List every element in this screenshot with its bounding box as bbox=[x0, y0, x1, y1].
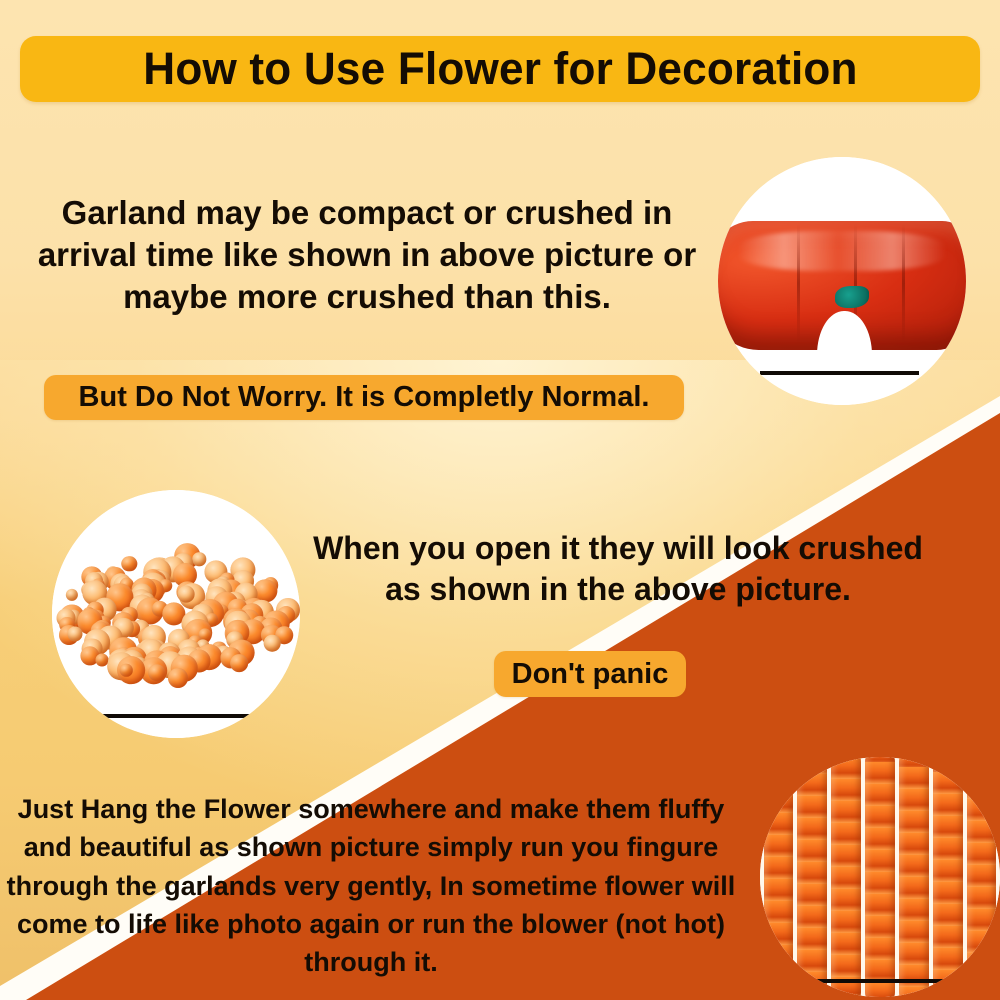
reassurance-pill-dont-panic: Don't panic bbox=[494, 651, 686, 697]
photo-baseline-rule bbox=[760, 371, 919, 375]
marigold-strand bbox=[967, 757, 997, 997]
strand-backdrop bbox=[760, 757, 1000, 997]
marigold-strand bbox=[933, 757, 963, 997]
top-paragraph: Garland may be compact or crushed in arr… bbox=[8, 192, 726, 319]
marigold-strand bbox=[764, 757, 794, 997]
marigold-strand bbox=[865, 757, 895, 997]
page-title: How to Use Flower for Decoration bbox=[143, 43, 857, 95]
photo-packed-garland-bundle bbox=[718, 157, 966, 405]
title-banner: How to Use Flower for Decoration bbox=[20, 36, 980, 102]
reassurance-pill-normal: But Do Not Worry. It is Completly Normal… bbox=[44, 375, 684, 420]
photo-baseline-rule bbox=[789, 979, 962, 983]
photo-crushed-marigold-pile bbox=[52, 490, 300, 738]
plastic-sheen bbox=[738, 231, 946, 271]
middle-paragraph: When you open it they will look crushed … bbox=[298, 528, 938, 610]
photo-hanging-marigold-strands bbox=[760, 757, 1000, 997]
marigold-strand bbox=[797, 757, 827, 997]
infographic-poster: How to Use Flower for Decoration Garland… bbox=[0, 0, 1000, 1000]
marigold-pile bbox=[59, 540, 292, 694]
bundle-crease bbox=[797, 224, 800, 343]
photo-baseline-rule bbox=[84, 714, 258, 718]
marigold-strand bbox=[899, 757, 929, 997]
marigold-strand bbox=[831, 757, 861, 997]
bundle-crease bbox=[902, 224, 905, 343]
bottom-paragraph: Just Hang the Flower somewhere and make … bbox=[6, 790, 736, 982]
